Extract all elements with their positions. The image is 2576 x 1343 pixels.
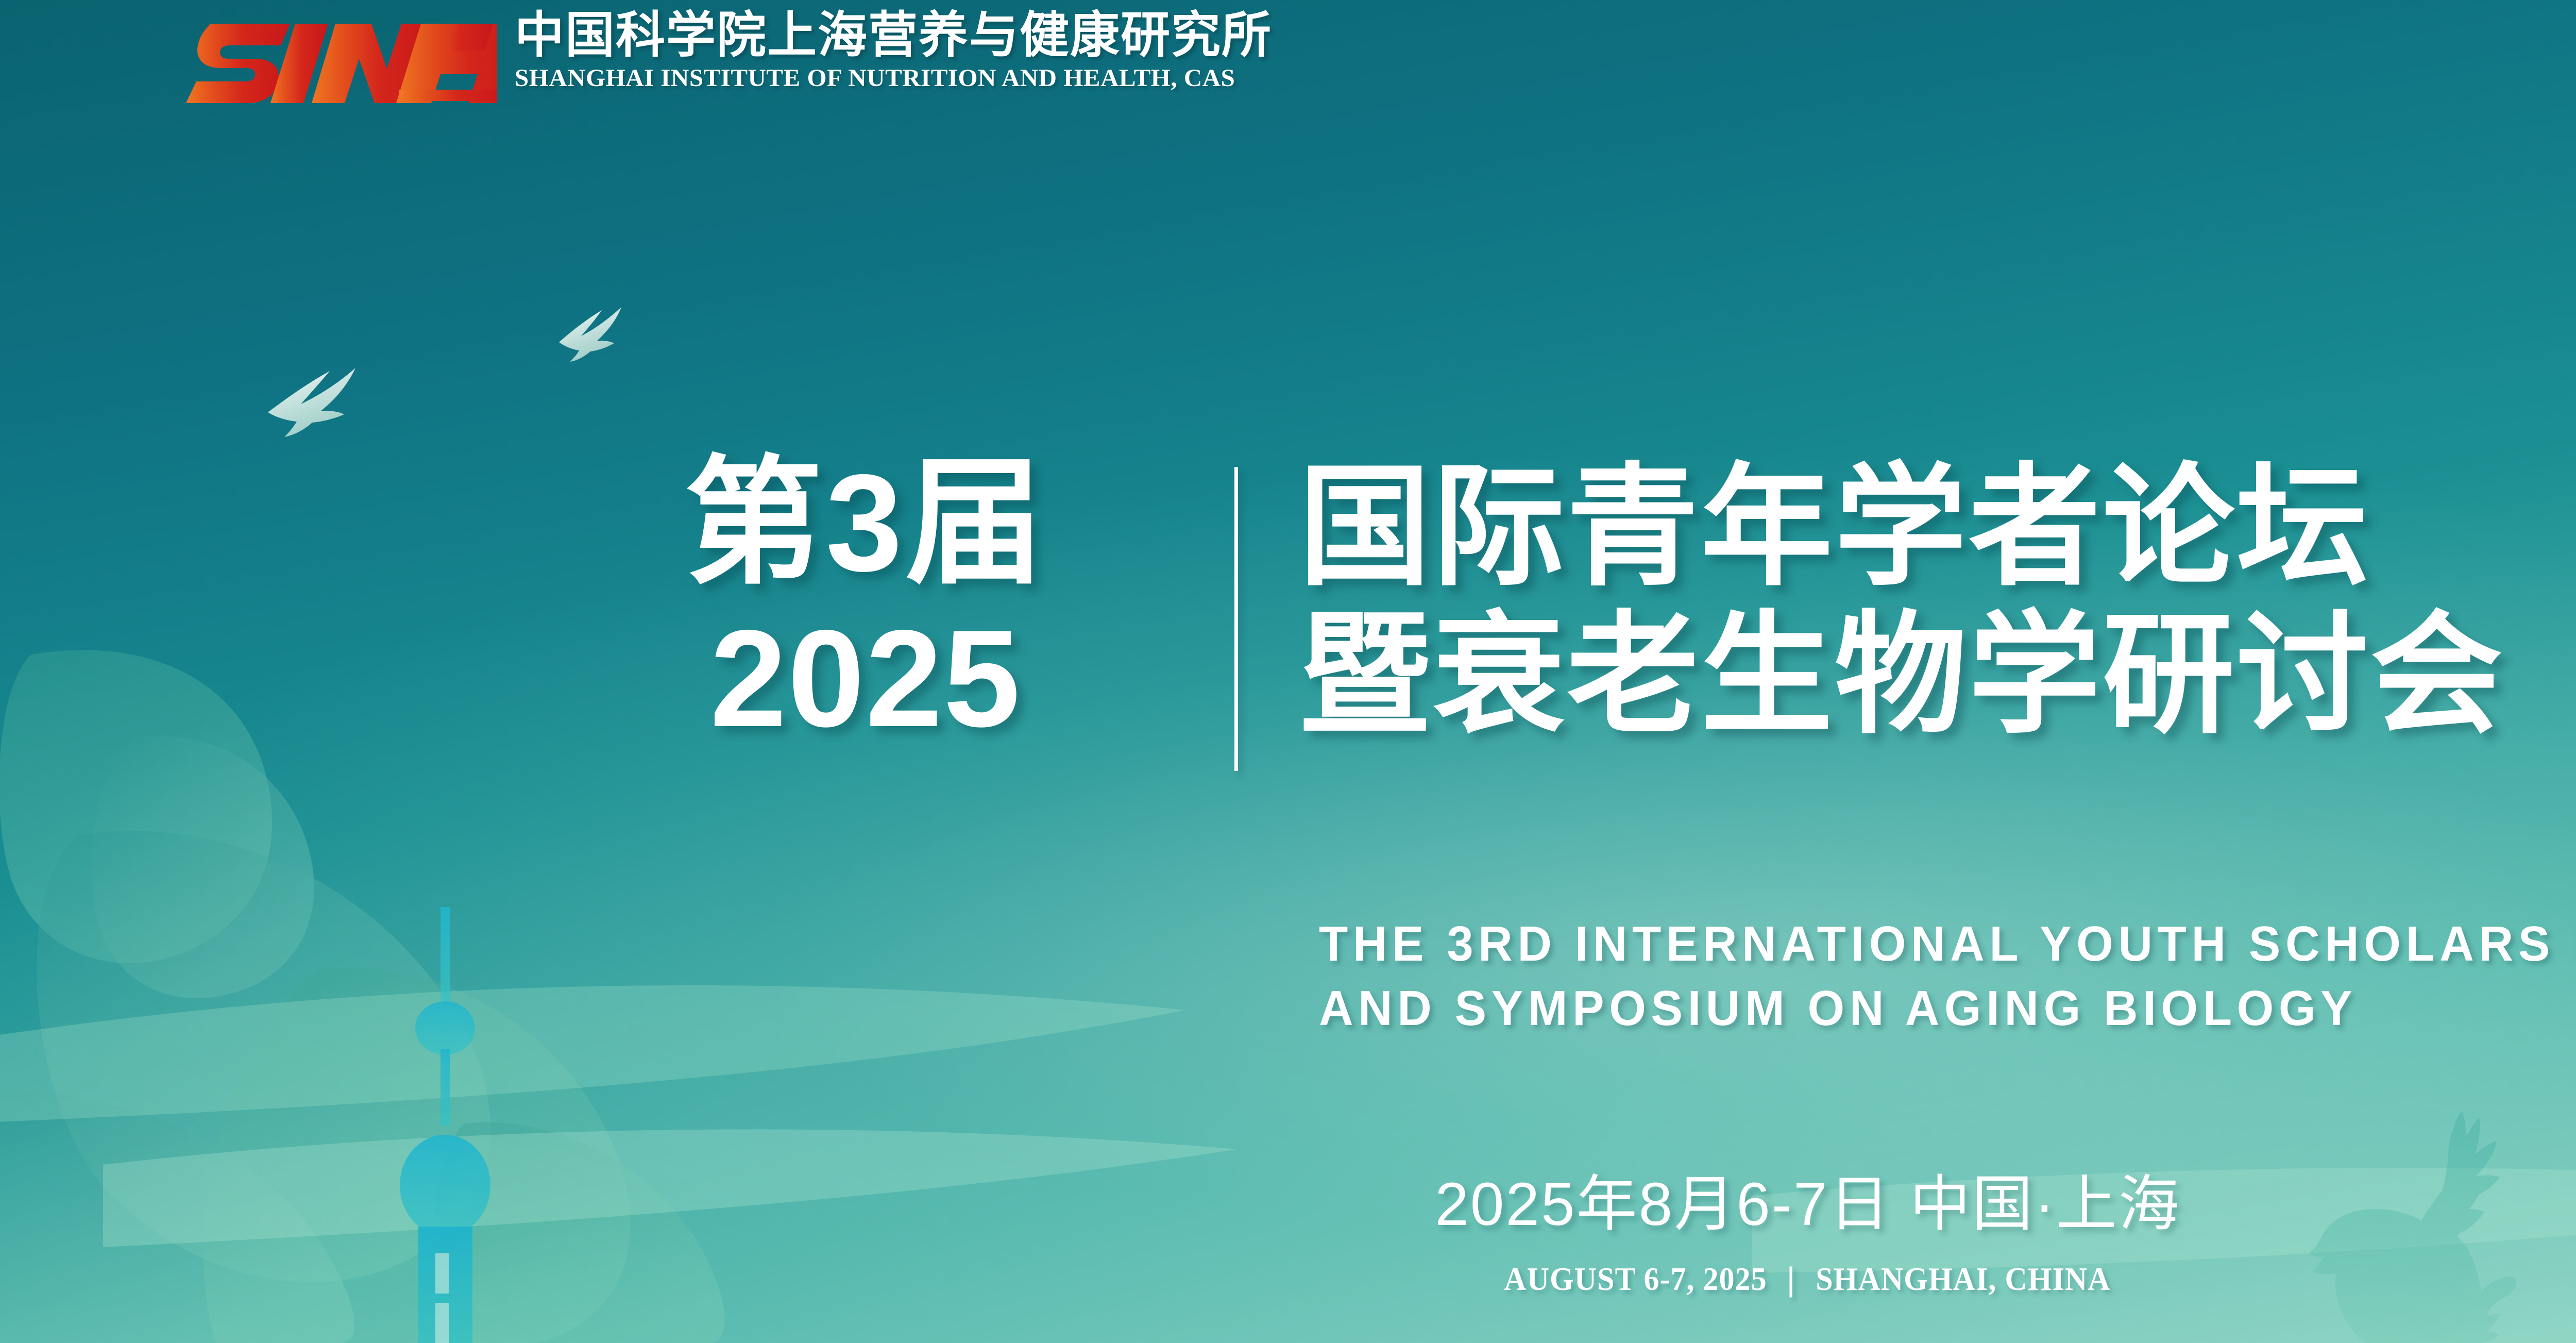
seagull-top-left-2 xyxy=(559,307,621,362)
title-divider xyxy=(1234,467,1238,771)
english-subtitle-block: THE 3RD INTERNATIONAL YOUTH SCHOLARS FOR… xyxy=(1319,912,2576,1041)
subtitle-line-2: AND SYMPOSIUM ON AGING BIOLOGY xyxy=(1319,977,2576,1041)
main-title-area: 第3届 2025 国际青年学者论坛 暨衰老生物学研讨会 xyxy=(546,454,2504,771)
conference-banner: 中国科学院上海营养与健康研究所 SHANGHAI INSTITUTE OF NU… xyxy=(0,0,2576,1343)
institute-name-group: 中国科学院上海营养与健康研究所 SHANGHAI INSTITUTE OF NU… xyxy=(515,10,1272,92)
sinh-logo-icon xyxy=(178,11,497,104)
place-en: SHANGHAI, CHINA xyxy=(1816,1260,2111,1298)
seagull-top-left-1 xyxy=(268,368,355,437)
institute-logo-block: 中国科学院上海营养与健康研究所 SHANGHAI INSTITUTE OF NU… xyxy=(178,7,1272,104)
date-en: AUGUST 6-7, 2025 xyxy=(1504,1260,1767,1298)
edition-column: 第3届 2025 xyxy=(546,454,1185,751)
edition-year: 2025 xyxy=(710,606,1021,751)
date-location-block: 2025年8月6-7日 中国·上海 AUGUST 6-7, 2025 | SHA… xyxy=(0,1154,2576,1298)
date-separator: | xyxy=(1787,1263,1795,1296)
edition-label: 第3届 xyxy=(684,454,1046,592)
main-title-line-1: 国际青年学者论坛 xyxy=(1299,454,2504,601)
title-column: 国际青年学者论坛 暨衰老生物学研讨会 xyxy=(1299,454,2504,749)
institute-name-cn: 中国科学院上海营养与健康研究所 xyxy=(515,10,1272,61)
date-location-cn: 2025年8月6-7日 中国·上海 xyxy=(1435,1154,2181,1243)
institute-name-en: SHANGHAI INSTITUTE OF NUTRITION AND HEAL… xyxy=(515,64,1287,92)
main-title-line-2: 暨衰老生物学研讨会 xyxy=(1299,601,2504,749)
date-location-en-row: AUGUST 6-7, 2025 | SHANGHAI, CHINA xyxy=(1496,1260,2120,1298)
subtitle-line-1: THE 3RD INTERNATIONAL YOUTH SCHOLARS FOR… xyxy=(1319,912,2576,977)
